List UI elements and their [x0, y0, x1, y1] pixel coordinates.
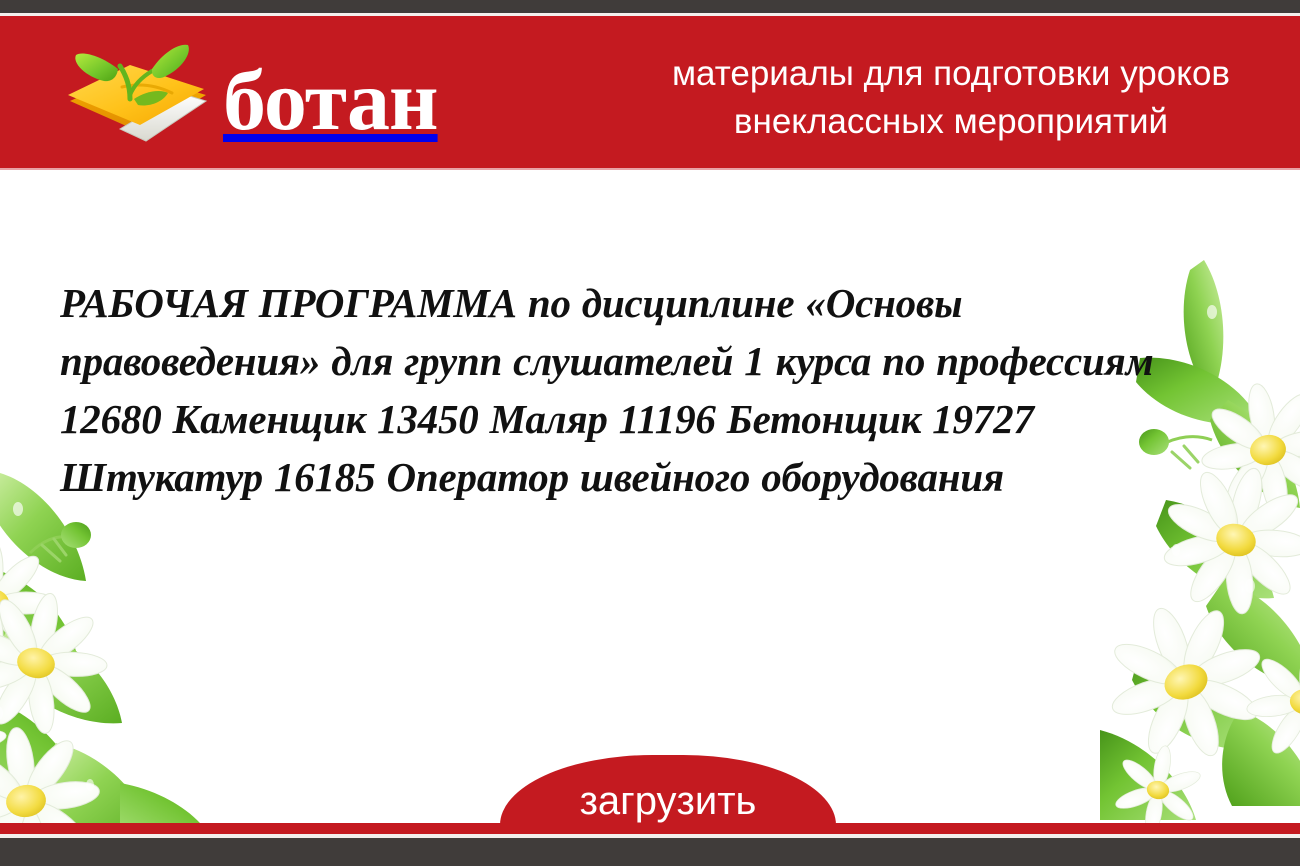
- brand-logo-link[interactable]: ботан: [60, 30, 438, 160]
- footer-dark-strip: [0, 838, 1300, 866]
- page-title: РАБОЧАЯ ПРОГРАММА по дисциплине «Основы …: [60, 274, 1225, 506]
- content-area: РАБОЧАЯ ПРОГРАММА по дисциплине «Основы …: [0, 170, 1300, 823]
- site-header: ботан материалы для подготовки уроков вн…: [0, 16, 1300, 170]
- book-sprout-icon: [60, 33, 215, 158]
- top-dark-strip: [0, 0, 1300, 13]
- tagline-line-2: внеклассных мероприятий: [612, 98, 1290, 146]
- page-root: ботан материалы для подготовки уроков вн…: [0, 0, 1300, 866]
- tagline-line-1: материалы для подготовки уроков: [612, 50, 1290, 98]
- brand-wordmark: ботан: [223, 57, 438, 143]
- header-tagline: материалы для подготовки уроков внекласс…: [612, 50, 1290, 146]
